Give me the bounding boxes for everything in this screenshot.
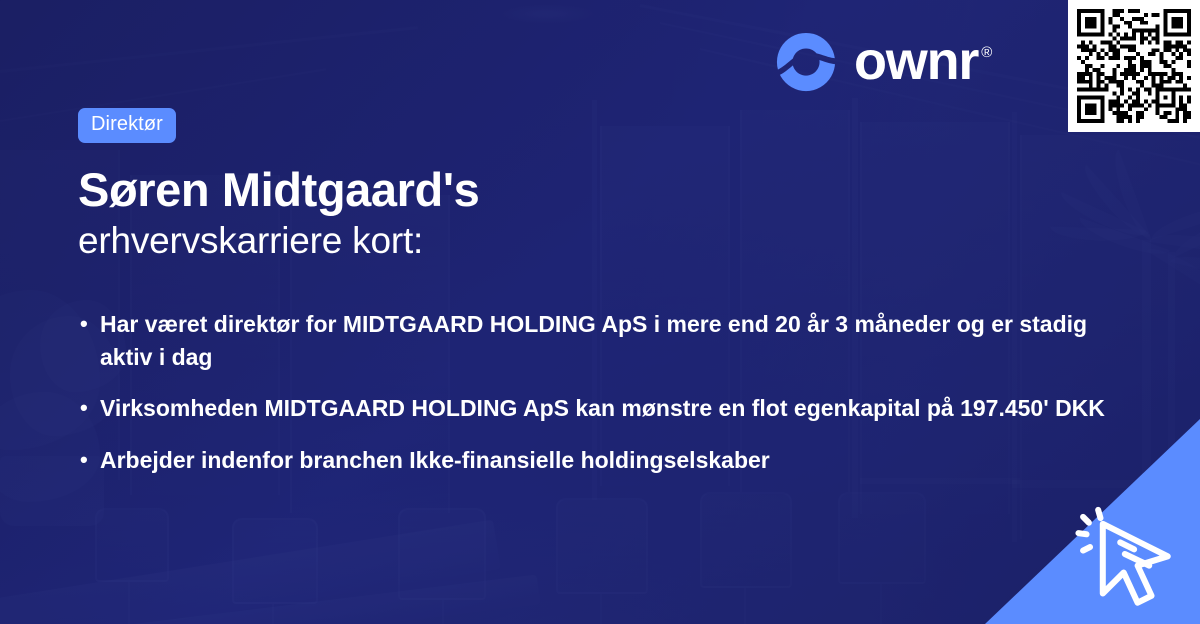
list-item: • Arbejder indenfor branchen Ikke-finans…	[80, 444, 1110, 477]
list-item: • Virksomheden MIDTGAARD HOLDING ApS kan…	[80, 392, 1110, 425]
qr-code[interactable]	[1068, 0, 1200, 132]
bullet-marker-icon: •	[80, 392, 100, 423]
list-item-text: Arbejder indenfor branchen Ikke-finansie…	[100, 444, 1110, 477]
page-title: Søren Midtgaard's	[78, 165, 1078, 216]
ownr-circle-wave-logo-icon	[775, 31, 837, 93]
business-profile-card: ownr ® Direktør Søren Midtgaard's erhver…	[0, 0, 1200, 624]
headline-block: Direktør Søren Midtgaard's erhvervskarri…	[78, 108, 1078, 262]
ownr-logo: ownr ®	[775, 31, 992, 93]
click-cursor-icon	[1068, 496, 1184, 612]
page-subtitle: erhvervskarriere kort:	[78, 220, 1078, 263]
list-item: • Har været direktør for MIDTGAARD HOLDI…	[80, 308, 1110, 373]
career-facts-list: • Har været direktør for MIDTGAARD HOLDI…	[80, 308, 1110, 496]
ownr-wordmark: ownr ®	[854, 36, 992, 87]
bullet-marker-icon: •	[80, 308, 100, 339]
role-badge: Direktør	[78, 108, 176, 143]
bullet-marker-icon: •	[80, 444, 100, 475]
qr-code-canvas	[1077, 9, 1191, 123]
ownr-wordmark-text: ownr	[854, 36, 978, 87]
list-item-text: Har været direktør for MIDTGAARD HOLDING…	[100, 308, 1110, 373]
list-item-text: Virksomheden MIDTGAARD HOLDING ApS kan m…	[100, 392, 1110, 425]
registered-trademark-symbol: ®	[981, 45, 992, 60]
